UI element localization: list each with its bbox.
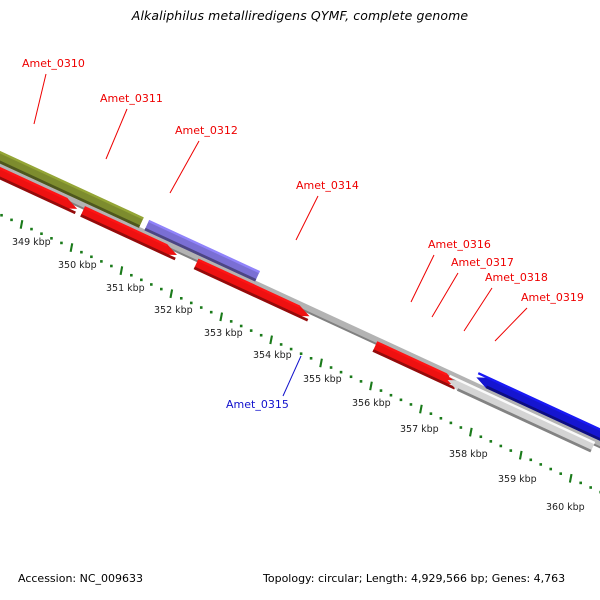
gene-label-leader: [283, 356, 301, 396]
scale-tick-minor: [230, 320, 233, 323]
gene-label-leader: [495, 308, 527, 341]
scale-tick-minor: [210, 311, 213, 314]
scale-tick-minor: [509, 449, 512, 452]
gene-label-leader: [170, 141, 199, 193]
genome-map-canvas: [0, 0, 600, 600]
gene-label-leader: [411, 255, 434, 302]
scale-tick-minor: [350, 375, 353, 378]
scale-tick-minor: [589, 486, 592, 489]
scale-tick-minor: [80, 251, 83, 254]
scale-tick-minor: [440, 417, 443, 420]
gene-arrow[interactable]: [448, 376, 596, 452]
scale-tick-minor: [160, 288, 163, 291]
genome-summary-text: Topology: circular; Length: 4,929,566 bp…: [263, 572, 565, 585]
scale-tick-minor: [60, 242, 63, 245]
gene-label[interactable]: Amet_0316: [428, 238, 491, 251]
scale-tick-minor: [410, 403, 413, 406]
scale-tick-label: 351 kbp: [106, 283, 145, 294]
scale-tick-label: 358 kbp: [449, 449, 488, 460]
scale-tick-major: [470, 428, 472, 437]
scale-tick-minor: [380, 389, 383, 392]
gene-label-leader: [432, 273, 458, 317]
scale-tick-minor: [310, 357, 313, 360]
scale-tick-minor: [539, 463, 542, 466]
scale-tick-minor: [150, 283, 153, 286]
scale-tick-minor: [500, 445, 503, 448]
gene-label-leader: [106, 109, 127, 159]
scale-tick-minor: [260, 334, 263, 337]
scale-tick-minor: [10, 219, 13, 222]
scale-tick-minor: [430, 412, 433, 415]
scale-tick-layer: [0, 205, 600, 498]
scale-tick-minor: [0, 214, 3, 217]
gene-label[interactable]: Amet_0318: [485, 271, 548, 284]
scale-tick-minor: [300, 352, 303, 355]
scale-tick-label: 350 kbp: [58, 260, 97, 271]
gene-track-layer: [0, 134, 600, 600]
gene-label[interactable]: Amet_0311: [100, 92, 163, 105]
scale-tick-major: [170, 289, 172, 298]
scale-tick-minor: [250, 329, 253, 332]
scale-tick-minor: [559, 472, 562, 475]
scale-tick-major: [570, 474, 572, 483]
scale-tick-minor: [90, 255, 93, 258]
gene-label-leader: [34, 74, 46, 124]
scale-tick-minor: [579, 482, 582, 485]
scale-tick-minor: [390, 394, 393, 397]
scale-tick-major: [71, 243, 73, 252]
scale-tick-minor: [200, 306, 203, 309]
scale-tick-minor: [190, 302, 193, 305]
scale-tick-label: 359 kbp: [498, 474, 537, 485]
gene-shadow: [145, 229, 256, 280]
scale-tick-major: [520, 451, 522, 460]
gene-body[interactable]: [373, 341, 457, 384]
scale-tick-label: 349 kbp: [12, 237, 51, 248]
scale-tick-minor: [110, 265, 113, 268]
scale-tick-major: [21, 220, 23, 229]
scale-tick-label: 353 kbp: [204, 328, 243, 339]
gene-label[interactable]: Amet_0310: [22, 57, 85, 70]
gene-label-leader: [296, 196, 318, 240]
scale-tick-label: 355 kbp: [303, 374, 342, 385]
scale-tick-minor: [130, 274, 133, 277]
scale-tick-minor: [140, 279, 143, 282]
gene-label-leader: [464, 288, 492, 331]
scale-tick-major: [220, 313, 222, 322]
scale-tick-minor: [549, 468, 552, 471]
scale-tick-minor: [280, 343, 283, 346]
gene-label[interactable]: Amet_0314: [296, 179, 359, 192]
gene-arrow[interactable]: [373, 341, 457, 388]
scale-tick-label: 357 kbp: [400, 424, 439, 435]
gene-label[interactable]: Amet_0319: [521, 291, 584, 304]
scale-tick-major: [121, 266, 123, 275]
scale-tick-label: 360 kbp: [546, 502, 585, 513]
gene-label[interactable]: Amet_0315: [226, 398, 289, 411]
scale-tick-minor: [30, 228, 33, 231]
scale-tick-major: [320, 359, 322, 368]
scale-tick-label: 352 kbp: [154, 305, 193, 316]
scale-tick-minor: [40, 232, 43, 235]
scale-tick-minor: [100, 260, 103, 263]
accession-text: Accession: NC_009633: [18, 572, 143, 585]
gene-label[interactable]: Amet_0312: [175, 124, 238, 137]
scale-tick-label: 354 kbp: [253, 350, 292, 361]
scale-tick-major: [370, 382, 372, 391]
scale-tick-minor: [180, 297, 183, 300]
scale-tick-minor: [360, 380, 363, 383]
scale-tick-minor: [240, 325, 243, 328]
scale-tick-minor: [330, 366, 333, 369]
scale-tick-minor: [450, 422, 453, 425]
scale-tick-minor: [460, 426, 463, 429]
genome-map-viewer: Alkaliphilus metalliredigens QYMF, compl…: [0, 0, 600, 600]
scale-tick-minor: [490, 440, 493, 443]
scale-tick-label: 356 kbp: [352, 398, 391, 409]
scale-tick-minor: [529, 459, 532, 462]
label-leader-lines: [34, 74, 527, 396]
scale-tick-major: [420, 405, 422, 414]
gene-label[interactable]: Amet_0317: [451, 256, 514, 269]
scale-tick-minor: [400, 399, 403, 402]
scale-tick-minor: [480, 435, 483, 438]
scale-tick-major: [270, 336, 272, 345]
